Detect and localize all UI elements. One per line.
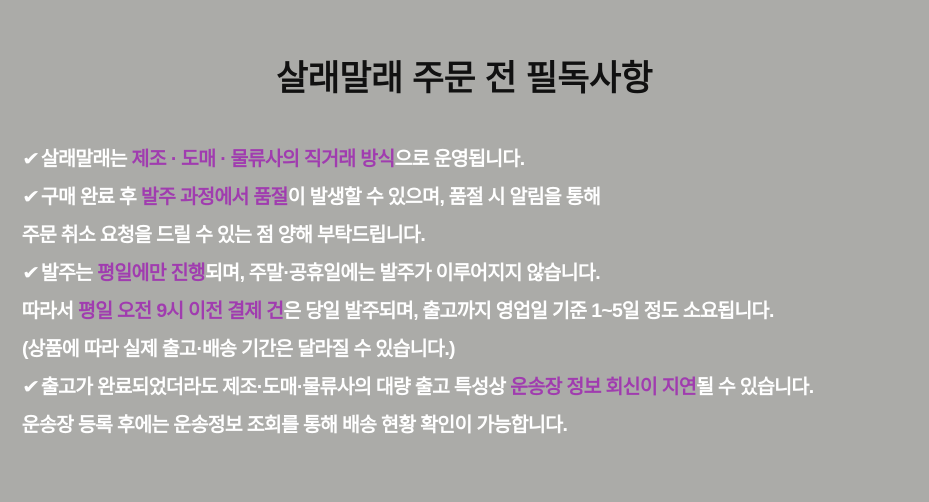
notice-text: 될 수 있습니다.	[696, 376, 813, 398]
notice-line: ✔발주는 평일에만 진행되며, 주말·공휴일에는 발주가 이루어지지 않습니다.	[22, 254, 922, 292]
check-icon: ✔	[22, 255, 39, 293]
notice-line: 운송장 등록 후에는 운송정보 조회를 통해 배송 현황 확인이 가능합니다.	[22, 406, 922, 444]
notice-text: 되며, 주말·공휴일에는 발주가 이루어지지 않습니다.	[205, 262, 600, 284]
notice-line: ✔살래말래는 제조 · 도매 · 물류사의 직거래 방식으로 운영됩니다.	[22, 140, 922, 178]
notice-text: 으로 운영됩니다.	[395, 148, 525, 170]
notice-line: ✔출고가 완료되었더라도 제조·도매·물류사의 대량 출고 특성상 운송장 정보…	[22, 368, 922, 406]
notice-text: 발주는	[41, 262, 97, 284]
notice-body: ✔살래말래는 제조 · 도매 · 물류사의 직거래 방식으로 운영됩니다.✔구매…	[22, 140, 922, 444]
check-icon: ✔	[22, 179, 39, 217]
highlighted-text: 평일에만 진행	[97, 262, 205, 284]
notice-line: ✔구매 완료 후 발주 과정에서 품절이 발생할 수 있으며, 품절 시 알림을…	[22, 178, 922, 216]
notice-text: 출고가 완료되었더라도 제조·도매·물류사의 대량 출고 특성상	[41, 376, 510, 398]
notice-text: 구매 완료 후	[41, 186, 141, 208]
check-icon: ✔	[22, 369, 39, 407]
notice-text: 은 당일 발주되며, 출고까지 영업일 기준 1~5일 정도 소요됩니다.	[284, 300, 774, 322]
notice-text: 따라서	[22, 300, 78, 322]
notice-text: 이 발생할 수 있으며, 품절 시 알림을 통해	[288, 186, 600, 208]
notice-line: 주문 취소 요청을 드릴 수 있는 점 양해 부탁드립니다.	[22, 216, 922, 254]
notice-line: (상품에 따라 실제 출고·배송 기간은 달라질 수 있습니다.)	[22, 330, 922, 368]
notice-text: 주문 취소 요청을 드릴 수 있는 점 양해 부탁드립니다.	[22, 224, 425, 246]
notice-text: (상품에 따라 실제 출고·배송 기간은 달라질 수 있습니다.)	[22, 338, 455, 360]
highlighted-text: 발주 과정에서 품절	[141, 186, 288, 208]
notice-text: 운송장 등록 후에는 운송정보 조회를 통해 배송 현황 확인이 가능합니다.	[22, 414, 567, 436]
highlighted-text: 운송장 정보 회신이 지연	[510, 376, 696, 398]
notice-line: 따라서 평일 오전 9시 이전 결제 건은 당일 발주되며, 출고까지 영업일 …	[22, 292, 922, 330]
notice-text: 살래말래는	[41, 148, 132, 170]
page-title: 살래말래 주문 전 필독사항	[0, 55, 929, 103]
check-icon: ✔	[22, 141, 39, 179]
notice-card: 살래말래 주문 전 필독사항 ✔살래말래는 제조 · 도매 · 물류사의 직거래…	[0, 0, 929, 502]
highlighted-text: 평일 오전 9시 이전 결제 건	[78, 300, 283, 322]
highlighted-text: 제조 · 도매 · 물류사의 직거래 방식	[132, 148, 395, 170]
